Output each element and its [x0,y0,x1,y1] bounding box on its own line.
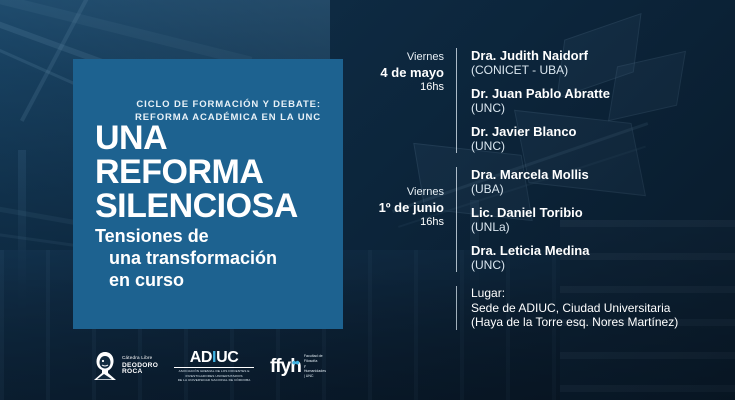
adiuc-sub-line-1: ASOCIACIÓN GREMIAL DE LOS DOCENTES E INV… [174,369,254,378]
speaker-name: Lic. Daniel Toribio [471,205,589,220]
subtitle-line-3: en curso [95,269,333,291]
adiuc-uc: UC [216,349,238,366]
list-item: Dra. Judith Naidorf (CONICET - UBA) [471,48,610,77]
catedra-libre-line-2: DEODORO ROCA [122,363,158,376]
subtitle-line-2: una transformación [95,247,333,269]
venue-label: Lugar: [471,286,678,301]
title-line-3: SILENCIOSA [95,189,333,223]
venue-block: Lugar: Sede de ADIUC, Ciudad Universitar… [352,286,727,330]
schedule-block: Viernes 4 de mayo 16hs Dra. Judith Naido… [352,48,727,153]
session-datetime: Viernes 1º de junio 16hs [352,167,456,272]
adiuc-rule [174,367,254,369]
logo-adiuc: ADIUC ASOCIACIÓN GREMIAL DE LOS DOCENTES… [174,350,254,383]
schedule-block: Viernes 1º de junio 16hs Dra. Marcela Mo… [352,167,727,272]
speaker-list: Dra. Marcela Mollis (UBA) Lic. Daniel To… [471,167,589,272]
venue-text: Lugar: Sede de ADIUC, Ciudad Universitar… [471,286,678,330]
session-day: Viernes [352,50,444,65]
title-line-2: REFORMA [95,155,333,189]
speaker-affiliation: (UNC) [471,258,589,272]
speaker-name: Dr. Juan Pablo Abratte [471,86,610,101]
catedra-libre-line-1: Cátedra Libre [122,356,158,361]
title-line-1: UNA [95,121,333,155]
ffyh-diaeresis-icon: •• [292,354,299,371]
session-hour: 16hs [352,80,444,95]
ffyh-sub-line-1: Facultad de Filosofía [304,354,326,364]
session-hour: 16hs [352,215,444,230]
speaker-affiliation: (UNC) [471,101,610,115]
speaker-name: Dr. Javier Blanco [471,124,610,139]
deodoro-roca-portrait-icon [92,351,118,381]
speaker-affiliation: (UNC) [471,139,610,153]
adiuc-sub-line-2: DE LA UNIVERSIDAD NACIONAL DE CÓRDOBA [174,378,254,382]
ffyh-subtext: Facultad de Filosofía y Humanidades | UN… [301,354,326,379]
session-date: 1º de junio [352,200,444,215]
logo-catedra-libre-deodoro-roca: Cátedra Libre DEODORO ROCA [92,351,158,381]
speaker-affiliation: (UBA) [471,182,589,196]
speaker-list: Dra. Judith Naidorf (CONICET - UBA) Dr. … [471,48,610,153]
ffyh-sub-line-2: y Humanidades | UNC [304,364,326,379]
schedule-section: Viernes 4 de mayo 16hs Dra. Judith Naido… [352,48,727,330]
speaker-affiliation: (CONICET - UBA) [471,63,610,77]
ffyh-wordmark: •• ffyh [270,358,301,375]
subtitle-line-1: Tensiones de [95,226,209,246]
event-poster: CICLO DE FORMACIÓN Y DEBATE: REFORMA ACA… [0,0,735,400]
speaker-affiliation: (UNLa) [471,220,589,234]
speaker-name: Dra. Marcela Mollis [471,167,589,182]
list-item: Lic. Daniel Toribio (UNLa) [471,205,589,234]
venue-line-1: Sede de ADIUC, Ciudad Universitaria [471,301,678,316]
list-item: Dr. Javier Blanco (UNC) [471,124,610,153]
list-item: Dra. Marcela Mollis (UBA) [471,167,589,196]
adiuc-wordmark: ADIUC [174,350,254,366]
session-date: 4 de mayo [352,65,444,80]
logo-ffyh: •• ffyh Facultad de Filosofía y Humanida… [270,354,326,379]
venue-line-2: (Haya de la Torre esq. Nores Martínez) [471,315,678,330]
title-panel: CICLO DE FORMACIÓN Y DEBATE: REFORMA ACA… [73,59,343,329]
session-day: Viernes [352,185,444,200]
kicker-line-1: CICLO DE FORMACIÓN Y DEBATE: [73,98,321,111]
list-item: Dr. Juan Pablo Abratte (UNC) [471,86,610,115]
subtitle: Tensiones de una transformación en curso [95,225,333,291]
session-datetime: Viernes 4 de mayo 16hs [352,48,456,153]
adiuc-ad: AD [190,349,212,366]
vertical-divider [456,286,457,330]
vertical-divider [456,167,457,272]
speaker-name: Dra. Leticia Medina [471,243,589,258]
vertical-divider [456,48,457,153]
logo-bar: Cátedra Libre DEODORO ROCA ADIUC ASOCIAC… [92,344,342,388]
speaker-name: Dra. Judith Naidorf [471,48,610,63]
venue-spacer [352,286,456,330]
catedra-libre-wordmark: Cátedra Libre DEODORO ROCA [122,356,158,376]
list-item: Dra. Leticia Medina (UNC) [471,243,589,272]
page-title: UNA REFORMA SILENCIOSA [95,121,333,223]
